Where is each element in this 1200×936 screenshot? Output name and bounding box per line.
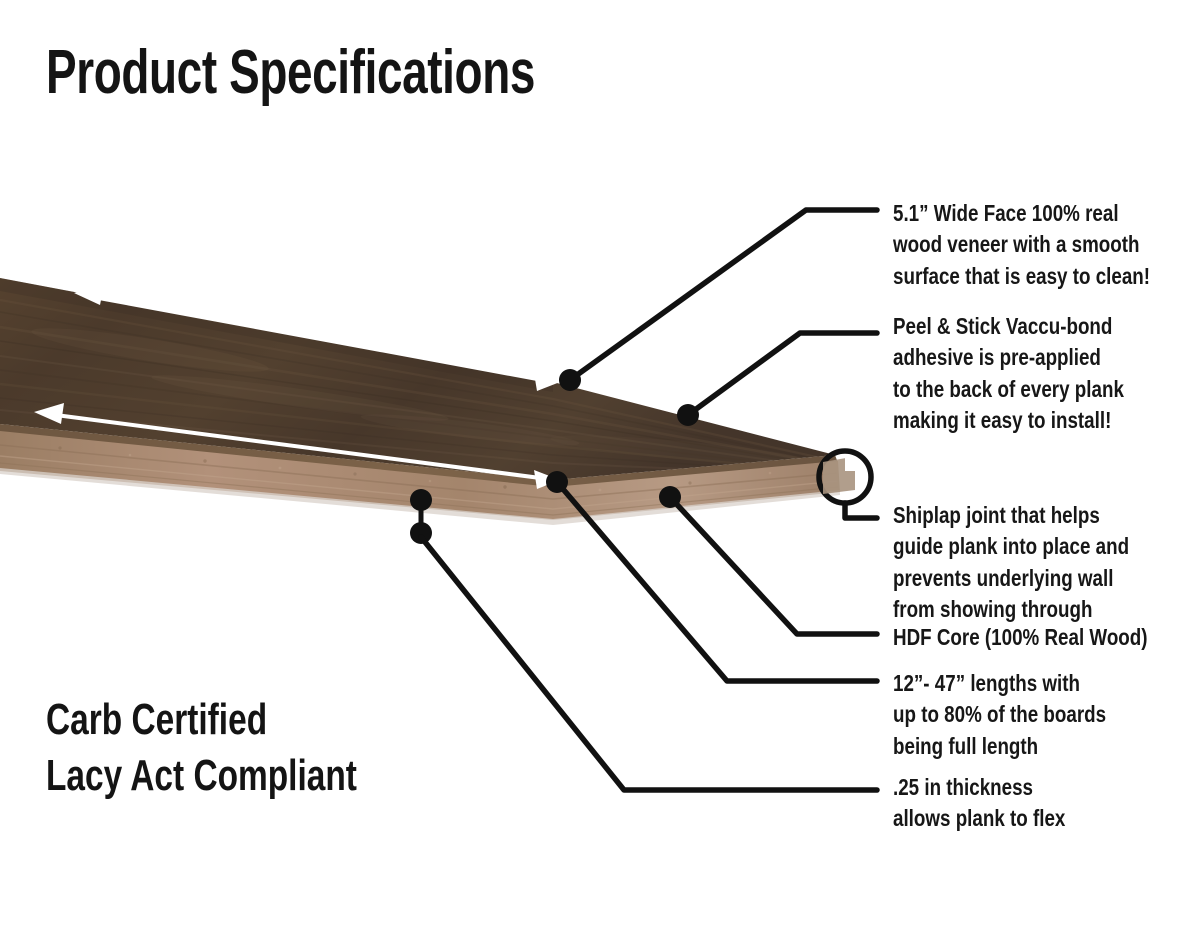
- callout-line: from showing through: [893, 594, 1200, 625]
- callout-line: guide plank into place and: [893, 531, 1200, 562]
- certification-block: Carb Certified Lacy Act Compliant: [46, 692, 357, 805]
- callout-line: making it easy to install!: [893, 405, 1200, 436]
- callout-line: wood veneer with a smooth: [893, 229, 1200, 260]
- shiplap-notch-profile: [823, 458, 855, 494]
- callout-hdf-core: HDF Core (100% Real Wood): [893, 622, 1200, 653]
- callout-line: .25 in thickness: [893, 772, 1200, 803]
- callout-line: 5.1” Wide Face 100% real: [893, 198, 1200, 229]
- callout-wide-face: 5.1” Wide Face 100% real wood veneer wit…: [893, 198, 1200, 292]
- callout-line: allows plank to flex: [893, 803, 1200, 834]
- certification-line-lacy: Lacy Act Compliant: [46, 748, 357, 804]
- callout-line: being full length: [893, 731, 1200, 762]
- callout-line: to the back of every plank: [893, 374, 1200, 405]
- leader-wide-face: [559, 210, 877, 391]
- callout-adhesive: Peel & Stick Vaccu-bond adhesive is pre-…: [893, 311, 1200, 436]
- callout-line: HDF Core (100% Real Wood): [893, 622, 1200, 653]
- callout-line: surface that is easy to clean!: [893, 261, 1200, 292]
- callout-line: prevents underlying wall: [893, 563, 1200, 594]
- callout-line: Shiplap joint that helps: [893, 500, 1200, 531]
- leader-adhesive: [677, 333, 877, 426]
- certification-line-carb: Carb Certified: [46, 692, 357, 748]
- product-specifications-diagram: Product Specifications: [0, 0, 1200, 936]
- callout-line: Peel & Stick Vaccu-bond: [893, 311, 1200, 342]
- callout-shiplap-joint: Shiplap joint that helps guide plank int…: [893, 500, 1200, 625]
- callout-lengths: 12”- 47” lengths with up to 80% of the b…: [893, 668, 1200, 762]
- shiplap-detail-circle: [819, 451, 877, 518]
- callout-thickness: .25 in thickness allows plank to flex: [893, 772, 1200, 835]
- callout-line: adhesive is pre-applied: [893, 342, 1200, 373]
- callout-line: up to 80% of the boards: [893, 699, 1200, 730]
- leader-thickness: [410, 489, 877, 790]
- callout-line: 12”- 47” lengths with: [893, 668, 1200, 699]
